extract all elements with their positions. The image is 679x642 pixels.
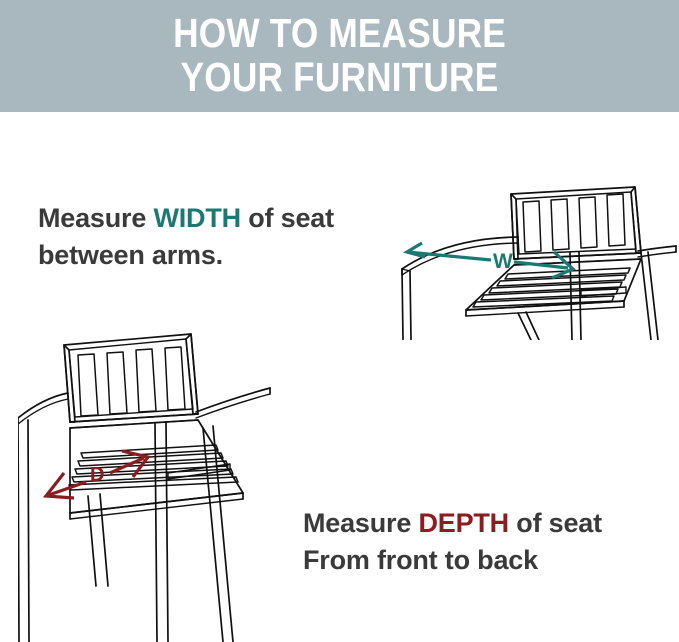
caption-depth-line-2: From front to back [303, 542, 602, 579]
caption-depth-suffix: of seat [509, 508, 602, 538]
caption-depth-line-1: Measure DEPTH of seat [303, 505, 602, 542]
caption-width-line-1: Measure WIDTH of seat [38, 200, 334, 237]
chair-illustration-depth: D [18, 318, 308, 642]
caption-depth-keyword: DEPTH [418, 508, 509, 538]
header-band: HOW TO MEASURE YOUR FURNITURE [0, 0, 679, 112]
infographic-page: HOW TO MEASURE YOUR FURNITURE Measure WI… [0, 0, 679, 642]
measure-label-depth: D [90, 464, 104, 486]
page-title-line-2: YOUR FURNITURE [48, 55, 632, 99]
caption-width-suffix: of seat [241, 203, 334, 233]
caption-width-prefix: Measure [38, 203, 153, 233]
page-title-line-1: HOW TO MEASURE [48, 11, 632, 55]
page-title: HOW TO MEASURE YOUR FURNITURE [48, 11, 632, 99]
measure-label-width: W [493, 250, 513, 273]
caption-depth: Measure DEPTH of seat From front to back [303, 505, 602, 579]
caption-width-line-2: between arms. [38, 237, 334, 274]
caption-width-keyword: WIDTH [153, 203, 240, 233]
caption-width: Measure WIDTH of seat between arms. [38, 200, 334, 274]
chair-illustration-width: W [398, 138, 679, 340]
caption-depth-prefix: Measure [303, 508, 418, 538]
